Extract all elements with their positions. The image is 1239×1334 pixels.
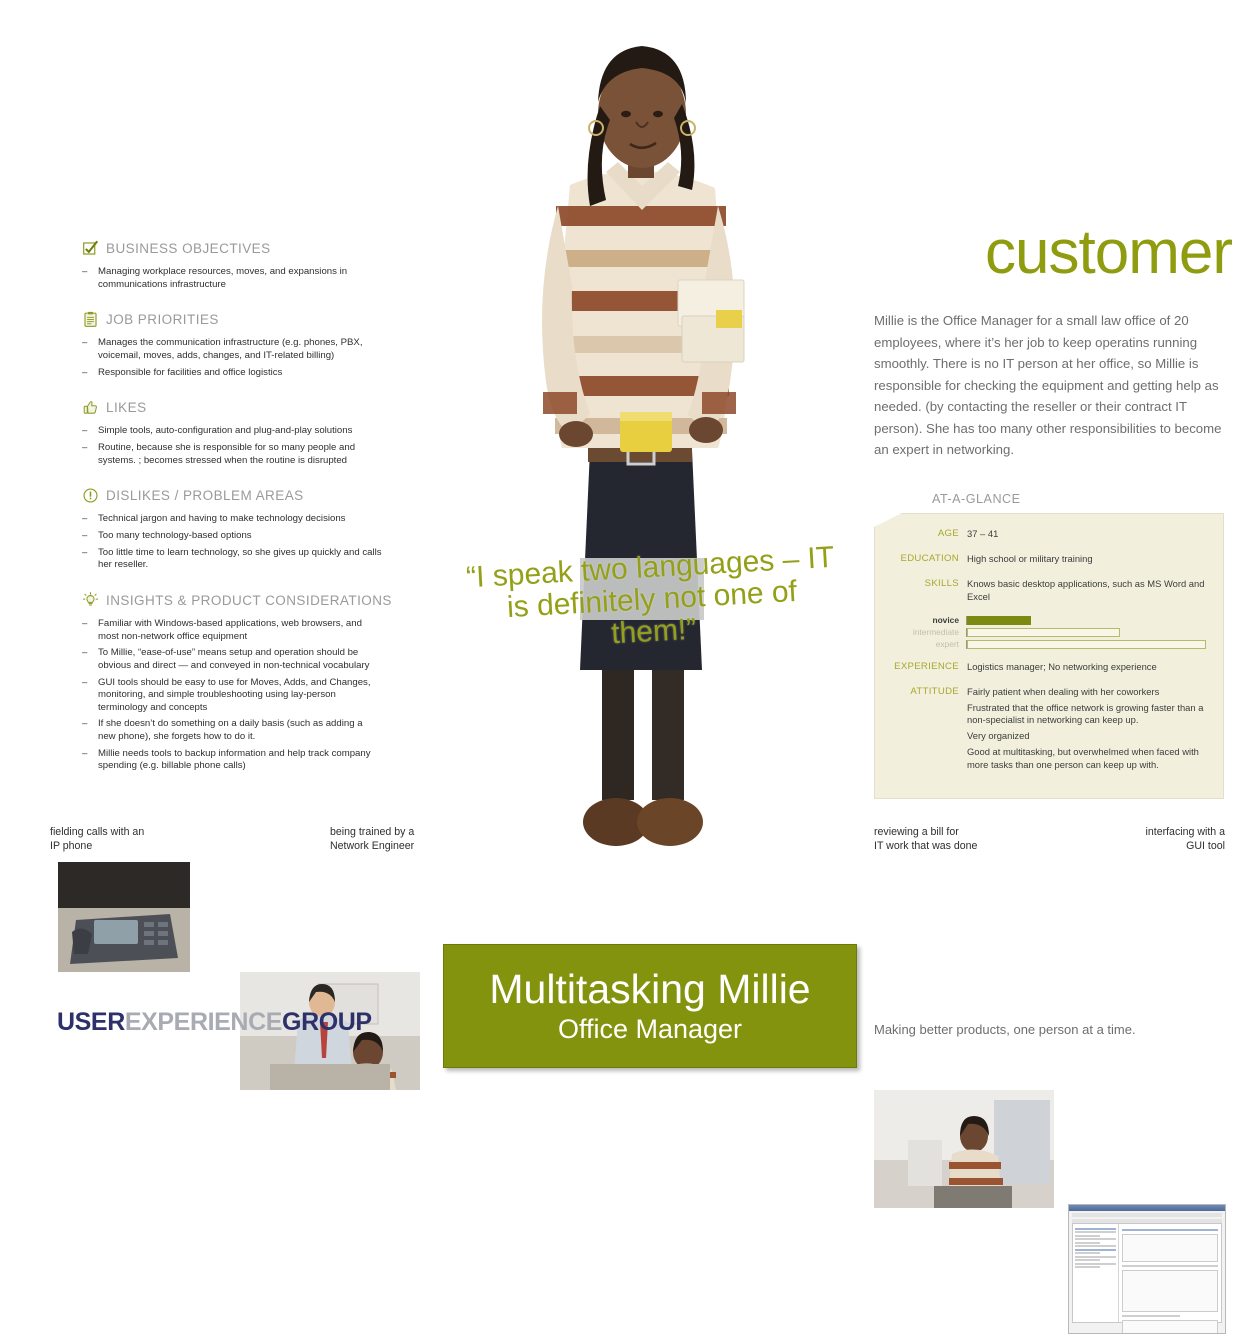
- skill-bar-track: [966, 616, 1213, 625]
- section-title: JOB PRIORITIES: [106, 312, 219, 327]
- value-line: 37 – 41: [967, 528, 1213, 541]
- value-line: Logistics manager; No networking experie…: [967, 661, 1213, 674]
- row-value: Fairly patient when dealing with her cow…: [967, 686, 1213, 776]
- row-value: Logistics manager; No networking experie…: [967, 661, 1213, 677]
- gui-tool-screenshot: [1068, 1204, 1226, 1334]
- skill-level-label: intermediate: [875, 628, 966, 637]
- dash-marker: –: [82, 718, 91, 743]
- lightbulb-icon: [82, 592, 99, 609]
- section-header: BUSINESS OBJECTIVES: [82, 240, 382, 257]
- at-a-glance-row-age: AGE 37 – 41: [875, 528, 1213, 544]
- value-line: Frustrated that the office network is gr…: [967, 702, 1213, 728]
- mini-tree-row: [1075, 1228, 1116, 1230]
- bullet-text: Technical jargon and having to make tech…: [98, 513, 382, 526]
- row-value: 37 – 41: [967, 528, 1213, 544]
- ip-phone-photo-image: [58, 862, 190, 972]
- list-item: –Familiar with Windows-based application…: [82, 618, 382, 643]
- mini-tree-row: [1075, 1266, 1100, 1268]
- bullet-text: Millie needs tools to backup information…: [98, 748, 382, 773]
- mini-form-header: [1122, 1229, 1218, 1231]
- bullet-list: –Familiar with Windows-based application…: [82, 618, 382, 773]
- right-info-column: customer Millie is the Office Manager fo…: [874, 222, 1232, 461]
- skill-bar-track: [966, 640, 1213, 649]
- list-item: –Managing workplace resources, moves, an…: [82, 266, 382, 291]
- persona-photo-area: [430, 10, 850, 910]
- row-value: Knows basic desktop applications, such a…: [967, 578, 1213, 607]
- row-label: ATTITUDE: [875, 686, 967, 776]
- mini-form-row: [1122, 1265, 1218, 1267]
- bullet-text: GUI tools should be easy to use for Move…: [98, 677, 382, 715]
- bullet-text: Too many technology-based options: [98, 530, 382, 543]
- skill-bar-outline: [967, 628, 1120, 637]
- customer-description: Millie is the Office Manager for a small…: [874, 310, 1232, 461]
- skill-bar-track: [966, 628, 1213, 637]
- row-label: EXPERIENCE: [875, 661, 967, 677]
- list-item: –Simple tools, auto-configuration and pl…: [82, 425, 382, 438]
- dash-marker: –: [82, 367, 91, 380]
- bullet-text: To Millie, “ease-of-use” means setup and…: [98, 647, 382, 672]
- list-item: –GUI tools should be easy to use for Mov…: [82, 677, 382, 715]
- logo-part-group: GROUP: [282, 1008, 372, 1036]
- skill-level-label: novice: [875, 616, 966, 625]
- left-info-column: BUSINESS OBJECTIVES –Managing workplace …: [82, 240, 382, 793]
- value-line: Fairly patient when dealing with her cow…: [967, 686, 1213, 699]
- mini-tree-row: [1075, 1256, 1116, 1258]
- section-header: LIKES: [82, 399, 382, 416]
- mini-tree-row: [1075, 1245, 1116, 1247]
- at-a-glance-title: AT-A-GLANCE: [932, 492, 1224, 506]
- skill-bar-fill: [967, 616, 1031, 625]
- dash-marker: –: [82, 513, 91, 526]
- dash-marker: –: [82, 425, 91, 438]
- bullet-list: –Managing workplace resources, moves, an…: [82, 266, 382, 291]
- skill-level-chart: novice intermediate expert: [875, 616, 1213, 650]
- bullet-list: –Simple tools, auto-configuration and pl…: [82, 425, 382, 467]
- bullet-text: Managing workplace resources, moves, and…: [98, 266, 382, 291]
- list-item: –Too little time to learn technology, so…: [82, 547, 382, 572]
- dash-marker: –: [82, 266, 91, 291]
- reviewing-bill-photo: [874, 1090, 1054, 1208]
- skill-bar-outline: [967, 640, 1206, 649]
- bullet-text: Routine, because she is responsible for …: [98, 442, 382, 467]
- clipboard-icon: [82, 311, 99, 328]
- mini-titlebar: [1069, 1205, 1225, 1211]
- skill-level-label: expert: [875, 640, 966, 649]
- section-header: DISLIKES / PROBLEM AREAS: [82, 487, 382, 504]
- value-line: High school or military training: [967, 553, 1213, 566]
- at-a-glance-row-skills: SKILLS Knows basic desktop applications,…: [875, 578, 1213, 607]
- dash-marker: –: [82, 647, 91, 672]
- skill-level-row-novice: novice: [875, 616, 1213, 625]
- ip-phone-photo: [58, 862, 190, 972]
- skill-level-row-expert: expert: [875, 640, 1213, 649]
- persona-role: Office Manager: [558, 1016, 742, 1043]
- gui-tool-screenshot-image: [1069, 1205, 1225, 1333]
- tagline: Making better products, one person at a …: [874, 1022, 1136, 1037]
- list-item: –Routine, because she is responsible for…: [82, 442, 382, 467]
- section-insights-product-considerations: INSIGHTS & PRODUCT CONSIDERATIONS –Famil…: [82, 592, 382, 773]
- exclamation-circle-icon: [82, 487, 99, 504]
- section-header: JOB PRIORITIES: [82, 311, 382, 328]
- section-business-objectives: BUSINESS OBJECTIVES –Managing workplace …: [82, 240, 382, 291]
- reviewing-bill-photo-image: [874, 1090, 1054, 1208]
- mini-form-group: [1122, 1270, 1218, 1312]
- photo-caption-gui-tool: interfacing with a GUI tool: [1060, 826, 1225, 853]
- list-item: –Millie needs tools to backup informatio…: [82, 748, 382, 773]
- checkbox-check-icon: [82, 240, 99, 257]
- persona-name-plate: Multitasking Millie Office Manager: [443, 944, 857, 1068]
- section-title: INSIGHTS & PRODUCT CONSIDERATIONS: [106, 593, 392, 608]
- section-title: BUSINESS OBJECTIVES: [106, 241, 271, 256]
- photo-caption-ip-phone: fielding calls with an IP phone: [50, 826, 230, 853]
- section-title: LIKES: [106, 400, 147, 415]
- at-a-glance-row-experience: EXPERIENCE Logistics manager; No network…: [875, 661, 1213, 677]
- row-label: SKILLS: [875, 578, 967, 607]
- dash-marker: –: [82, 677, 91, 715]
- bullet-text: If she doesn’t do something on a daily b…: [98, 718, 382, 743]
- bullet-list: –Technical jargon and having to make tec…: [82, 513, 382, 572]
- row-label: AGE: [875, 528, 967, 544]
- mini-tree-row: [1075, 1231, 1116, 1233]
- logo-part-user: USER: [57, 1008, 125, 1036]
- at-a-glance-row-attitude: ATTITUDE Fairly patient when dealing wit…: [875, 686, 1213, 776]
- mini-tree-row: [1075, 1235, 1100, 1237]
- list-item: –Too many technology-based options: [82, 530, 382, 543]
- dash-marker: –: [82, 442, 91, 467]
- value-line: Good at multitasking, but overwhelmed wh…: [967, 746, 1213, 772]
- mini-tree-row: [1075, 1252, 1100, 1254]
- mini-tree-row: [1075, 1249, 1116, 1251]
- bullet-text: Too little time to learn technology, so …: [98, 547, 382, 572]
- dash-marker: –: [82, 748, 91, 773]
- photo-caption-training: being trained by a Network Engineer: [330, 826, 510, 853]
- dash-marker: –: [82, 337, 91, 362]
- value-line: Knows basic desktop applications, such a…: [967, 578, 1213, 604]
- mini-menubar: [1072, 1213, 1222, 1217]
- list-item: –Technical jargon and having to make tec…: [82, 513, 382, 526]
- list-item: –To Millie, “ease-of-use” means setup an…: [82, 647, 382, 672]
- value-line: Very organized: [967, 730, 1213, 743]
- mini-form-pane: [1119, 1224, 1221, 1322]
- mini-tree-row: [1075, 1242, 1100, 1244]
- section-header: INSIGHTS & PRODUCT CONSIDERATIONS: [82, 592, 382, 609]
- list-item: –Responsible for facilities and office l…: [82, 367, 382, 380]
- dash-marker: –: [82, 618, 91, 643]
- thumbs-up-icon: [82, 399, 99, 416]
- section-job-priorities: JOB PRIORITIES –Manages the communicatio…: [82, 311, 382, 379]
- mini-form-group: [1122, 1320, 1218, 1334]
- section-likes: LIKES –Simple tools, auto-configuration …: [82, 399, 382, 467]
- at-a-glance-row-education: EDUCATION High school or military traini…: [875, 553, 1213, 569]
- bullet-text: Responsible for facilities and office lo…: [98, 367, 382, 380]
- user-experience-group-logo: USEREXPERIENCEGROUP: [57, 1008, 317, 1037]
- skill-level-row-intermediate: intermediate: [875, 628, 1213, 637]
- dash-marker: –: [82, 530, 91, 543]
- mini-body: [1072, 1223, 1222, 1323]
- at-a-glance-body: AGE 37 – 41 EDUCATION High school or mil…: [874, 513, 1224, 799]
- mini-form-group: [1122, 1234, 1218, 1262]
- mini-tree-row: [1075, 1259, 1100, 1261]
- row-label: EDUCATION: [875, 553, 967, 569]
- list-item: –If she doesn’t do something on a daily …: [82, 718, 382, 743]
- bullet-text: Familiar with Windows-based applications…: [98, 618, 382, 643]
- section-dislikes: DISLIKES / PROBLEM AREAS –Technical jarg…: [82, 487, 382, 572]
- dash-marker: –: [82, 547, 91, 572]
- persona-name: Multitasking Millie: [489, 969, 810, 1010]
- at-a-glance-panel: AT-A-GLANCE AGE 37 – 41 EDUCATION High s…: [874, 492, 1224, 799]
- page-title: customer: [874, 222, 1232, 284]
- mini-tree-row: [1075, 1263, 1116, 1265]
- persona-doll-illustration: [430, 10, 850, 890]
- list-item: –Manages the communication infrastructur…: [82, 337, 382, 362]
- bullet-list: –Manages the communication infrastructur…: [82, 337, 382, 379]
- mini-tree-row: [1075, 1238, 1116, 1240]
- mini-form-row: [1122, 1315, 1179, 1317]
- row-value: High school or military training: [967, 553, 1213, 569]
- bullet-text: Manages the communication infrastructure…: [98, 337, 382, 362]
- logo-part-experience: EXPERIENCE: [125, 1008, 282, 1036]
- section-title: DISLIKES / PROBLEM AREAS: [106, 488, 304, 503]
- mini-tree-pane: [1073, 1224, 1119, 1322]
- bullet-text: Simple tools, auto-configuration and plu…: [98, 425, 382, 438]
